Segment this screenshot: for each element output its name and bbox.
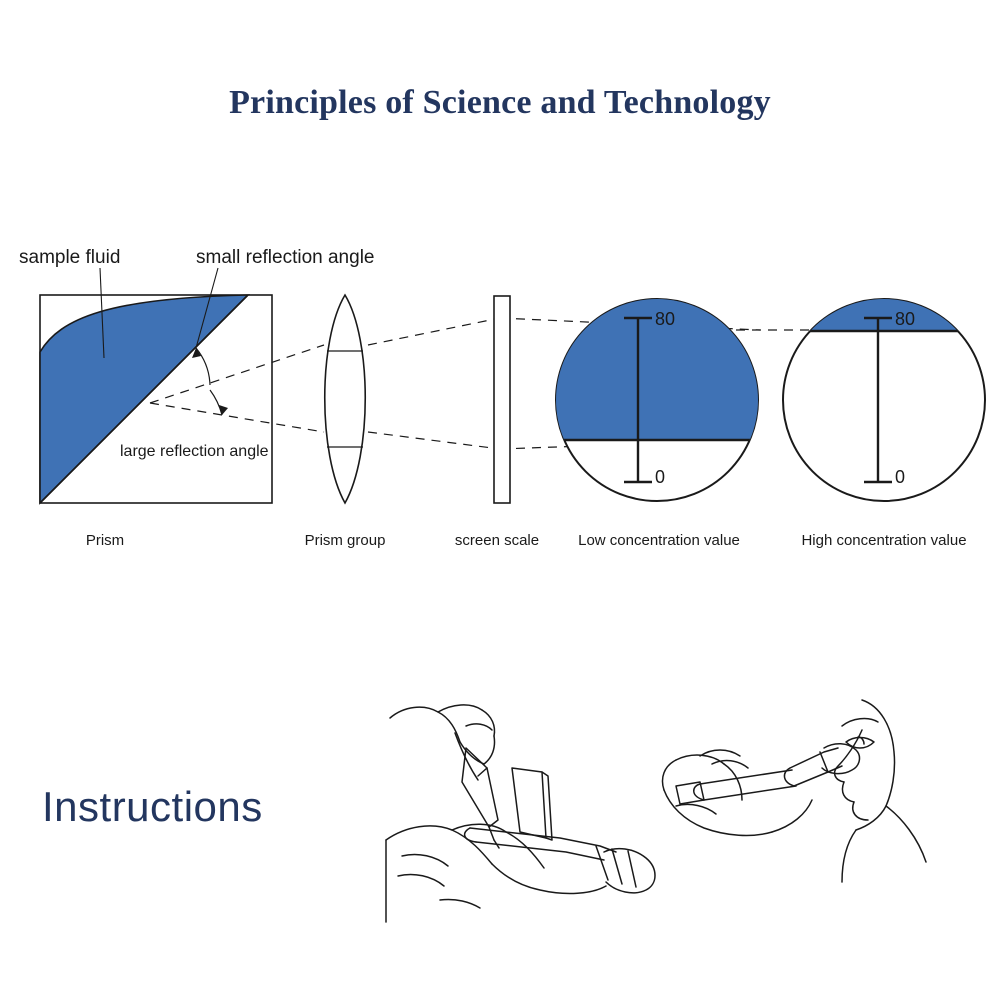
high-concentration-view: 80 0 — [783, 299, 985, 501]
low-top-value: 80 — [655, 309, 675, 329]
caption-prism: Prism — [40, 532, 170, 549]
label-small-reflection-angle: small reflection angle — [196, 247, 374, 269]
caption-prism-group: Prism group — [280, 532, 410, 549]
screen-scale-plate — [494, 296, 510, 503]
low-concentration-view: 80 0 — [556, 299, 758, 501]
low-bottom-value: 0 — [655, 467, 665, 487]
high-bottom-value: 0 — [895, 467, 905, 487]
prism-group — [40, 295, 272, 503]
prism-group-lens — [325, 295, 366, 503]
instructions-heading: Instructions — [42, 783, 263, 831]
label-large-reflection-angle: large reflection angle — [120, 443, 269, 461]
caption-low-concentration: Low concentration value — [565, 532, 753, 549]
principle-diagram: 80 0 80 0 — [0, 0, 1000, 1000]
label-sample-fluid: sample fluid — [19, 247, 120, 269]
high-top-value: 80 — [895, 309, 915, 329]
instruction-illustration-reading — [663, 700, 927, 882]
diagram-svg: 80 0 80 0 — [0, 0, 1000, 1000]
caption-high-concentration: High concentration value — [790, 532, 978, 549]
instruction-illustration-dropper — [386, 705, 655, 922]
caption-screen-scale: screen scale — [432, 532, 562, 549]
